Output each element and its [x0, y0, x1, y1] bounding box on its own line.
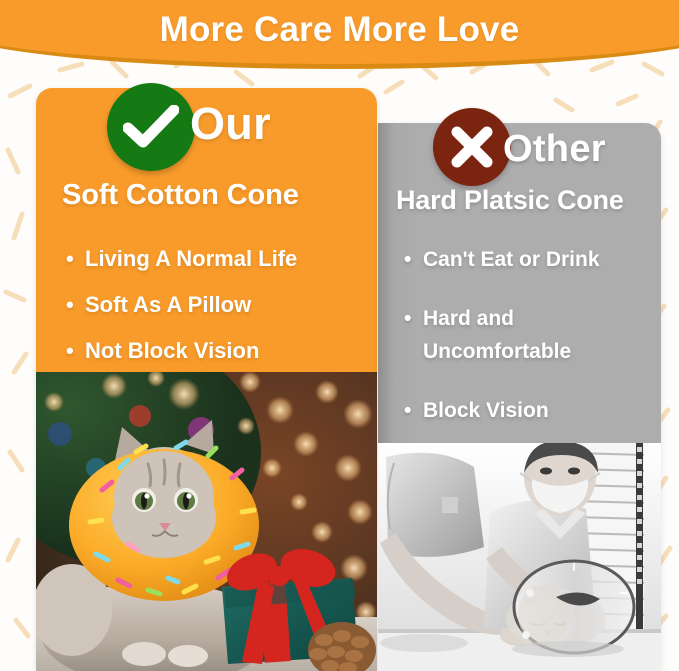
page-title: More Care More Love — [0, 10, 679, 50]
cross-icon — [433, 108, 511, 186]
our-benefits-list: Living A Normal Life Soft As A Pillow No… — [66, 236, 366, 374]
our-heading: Our — [190, 98, 271, 150]
comparison-infographic: More Care More Love — [0, 0, 679, 671]
other-product-photo — [378, 443, 661, 671]
list-item: Hard and Uncomfortable — [404, 302, 659, 368]
list-item: Can't Eat or Drink — [404, 243, 659, 276]
other-heading: Other — [503, 128, 606, 171]
header-banner: More Care More Love — [0, 0, 679, 69]
other-drawbacks-list: Can't Eat or Drink Hard and Uncomfortabl… — [404, 243, 659, 427]
other-subheading: Hard Platsic Cone — [396, 185, 624, 216]
list-item: Not Block Vision — [66, 328, 366, 374]
list-item: Living A Normal Life — [66, 236, 366, 282]
our-product-photo — [36, 372, 377, 671]
list-item: Soft As A Pillow — [66, 282, 366, 328]
check-icon — [107, 83, 195, 171]
list-item: Block Vision — [404, 394, 659, 427]
our-subheading: Soft Cotton Cone — [62, 179, 299, 212]
